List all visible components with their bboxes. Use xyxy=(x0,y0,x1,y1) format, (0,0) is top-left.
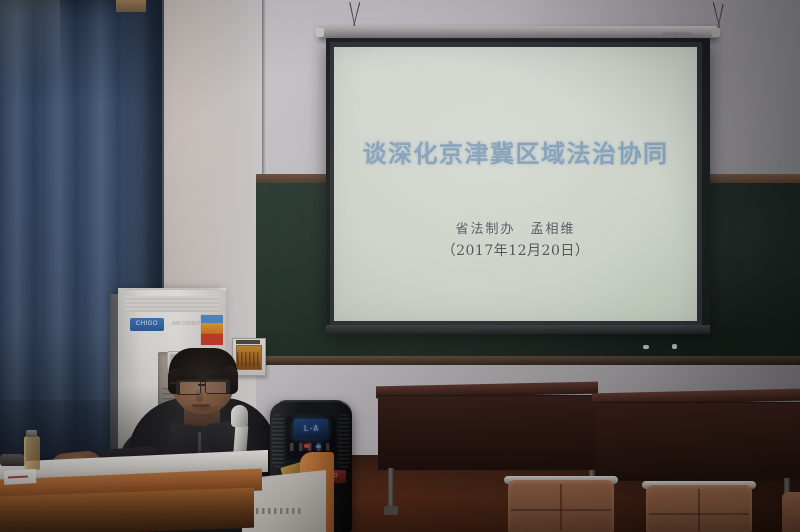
screen-brand-label: PROJECTION SCREEN xyxy=(646,30,692,37)
chalk-piece xyxy=(643,345,649,349)
wall-control-box-header xyxy=(236,340,260,344)
chair-seam xyxy=(560,484,562,530)
water-bottle xyxy=(24,436,40,470)
screen-roller-cap xyxy=(316,28,324,37)
wall-control-box-vents xyxy=(237,352,259,366)
table-leg xyxy=(388,468,394,510)
presenter-eyebrow xyxy=(177,376,197,378)
projector-screen-vignette xyxy=(334,47,697,321)
table-skirt xyxy=(594,403,800,481)
curtain-highlight xyxy=(0,0,60,120)
list-item xyxy=(782,492,800,532)
chair-seam xyxy=(511,509,611,511)
chair-seam xyxy=(698,489,700,531)
presenter-eyebrow xyxy=(207,375,227,377)
table-leg-foot xyxy=(384,506,398,515)
microphone-icon[interactable] xyxy=(231,405,248,427)
curtain-rod xyxy=(116,0,146,12)
screen-weight-bar xyxy=(326,325,710,334)
table-skirt xyxy=(378,396,596,470)
lecture-room-photo: PROJECTION SCREEN 谈深化京津冀区域法治协同 省法制办 孟相维 … xyxy=(0,0,800,532)
presenter-nose xyxy=(196,388,203,402)
screen-roller-cap xyxy=(712,28,720,37)
presenter-chin-shadow xyxy=(180,406,226,418)
glasses-bridge xyxy=(198,384,206,386)
lectern-front-shading xyxy=(0,488,254,532)
glasses-lens xyxy=(205,379,230,394)
glasses-temple xyxy=(170,382,177,384)
slide-date-line: （2017年12月20日） xyxy=(334,240,697,260)
teacup xyxy=(0,454,26,466)
chair-seam xyxy=(649,513,749,515)
bottle-cap xyxy=(26,430,37,437)
chalk-piece xyxy=(672,344,677,349)
slide-title: 谈深化京津冀区域法治协同 xyxy=(334,134,697,169)
slide-presenter-line: 省法制办 孟相维 xyxy=(334,218,697,237)
lectern-vents xyxy=(256,508,304,514)
